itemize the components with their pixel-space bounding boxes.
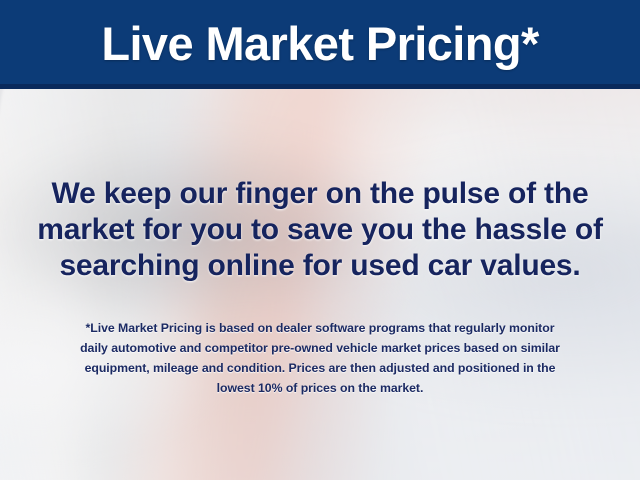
headline-line-2: market for you to save you the hassle of <box>0 212 640 248</box>
fineprint-line-4: lowest 10% of prices on the market. <box>24 378 616 398</box>
fineprint-line-3: equipment, mileage and condition. Prices… <box>24 358 616 378</box>
disclaimer-fineprint: *Live Market Pricing is based on dealer … <box>24 318 616 398</box>
headline: We keep our finger on the pulse of the m… <box>0 176 640 284</box>
live-market-pricing-banner: Live Market Pricing* We keep our finger … <box>0 0 640 480</box>
header-band-bottom-rule <box>0 84 640 89</box>
header-band: Live Market Pricing* <box>0 0 640 89</box>
fineprint-line-2: daily automotive and competitor pre-owne… <box>24 338 616 358</box>
page-title: Live Market Pricing* <box>101 20 538 70</box>
headline-line-1: We keep our finger on the pulse of the <box>0 176 640 212</box>
headline-line-3: searching online for used car values. <box>0 248 640 284</box>
fineprint-line-1: *Live Market Pricing is based on dealer … <box>24 318 616 338</box>
